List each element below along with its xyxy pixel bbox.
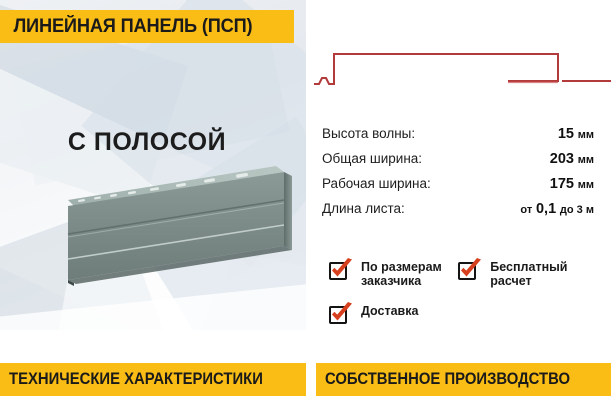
infographic-card: ЛИНЕЙНАЯ ПАНЕЛЬ (ПСП) С ПОЛОСОЙ [0, 0, 611, 412]
spec-unit: мм [578, 129, 594, 141]
spec-row: Длина листа: от 0,1 до 3 м [322, 201, 594, 226]
footer-bar-right: СОБСТВЕННОЕ ПРОИЗВОДСТВО [316, 363, 611, 396]
checkbox-checked-icon [457, 257, 483, 283]
spec-value: 203 мм [550, 151, 594, 167]
features-row: По размерам заказчика Бесплатный расчет [328, 256, 608, 288]
features-list: По размерам заказчика Бесплатный расчет [328, 256, 608, 327]
right-panel: Высота волны: 15 мм Общая ширина: 203 мм… [306, 0, 611, 412]
spec-number: 15 [558, 126, 574, 142]
left-panel: ЛИНЕЙНАЯ ПАНЕЛЬ (ПСП) С ПОЛОСОЙ [0, 0, 306, 412]
feature-item: Бесплатный расчет [457, 256, 608, 288]
spec-prefix: от [520, 204, 532, 216]
spec-label: Высота волны: [322, 126, 415, 141]
panel-subtitle: С ПОЛОСОЙ [0, 128, 294, 157]
spec-number: 203 [550, 151, 574, 167]
spec-value: от 0,1 до 3 м [520, 201, 594, 217]
spec-unit: мм [578, 179, 594, 191]
spec-value: 175 мм [550, 176, 594, 192]
header-bar-left: ЛИНЕЙНАЯ ПАНЕЛЬ (ПСП) [0, 10, 294, 43]
spec-number: 0,1 [536, 201, 556, 217]
specifications-table: Высота волны: 15 мм Общая ширина: 203 мм… [322, 126, 594, 226]
spec-unit: до 3 м [560, 204, 594, 216]
spec-value: 15 мм [558, 126, 594, 142]
spec-row: Общая ширина: 203 мм [322, 151, 594, 176]
spec-row: Рабочая ширина: 175 мм [322, 176, 594, 201]
feature-label: Бесплатный расчет [483, 256, 608, 288]
spec-unit: мм [578, 154, 594, 166]
footer-title-left: ТЕХНИЧЕСКИЕ ХАРАКТЕРИСТИКИ [0, 370, 263, 389]
features-row: Доставка [328, 300, 608, 327]
header-title-left: ЛИНЕЙНАЯ ПАНЕЛЬ (ПСП) [0, 16, 252, 38]
spec-number: 175 [550, 176, 574, 192]
spec-label: Рабочая ширина: [322, 176, 431, 191]
feature-label: Доставка [354, 300, 418, 318]
product-image [8, 158, 298, 308]
spec-label: Длина листа: [322, 201, 405, 216]
feature-item: Доставка [328, 300, 418, 327]
spec-label: Общая ширина: [322, 151, 422, 166]
spec-row: Высота волны: 15 мм [322, 126, 594, 151]
checkbox-checked-icon [328, 301, 354, 327]
feature-item: По размерам заказчика [328, 256, 457, 288]
checkbox-checked-icon [328, 257, 354, 283]
profile-cross-section-drawing [312, 36, 611, 91]
footer-bar-left: ТЕХНИЧЕСКИЕ ХАРАКТЕРИСТИКИ [0, 363, 306, 396]
footer-title-right: СОБСТВЕННОЕ ПРОИЗВОДСТВО [316, 370, 570, 389]
feature-label: По размерам заказчика [354, 256, 457, 288]
